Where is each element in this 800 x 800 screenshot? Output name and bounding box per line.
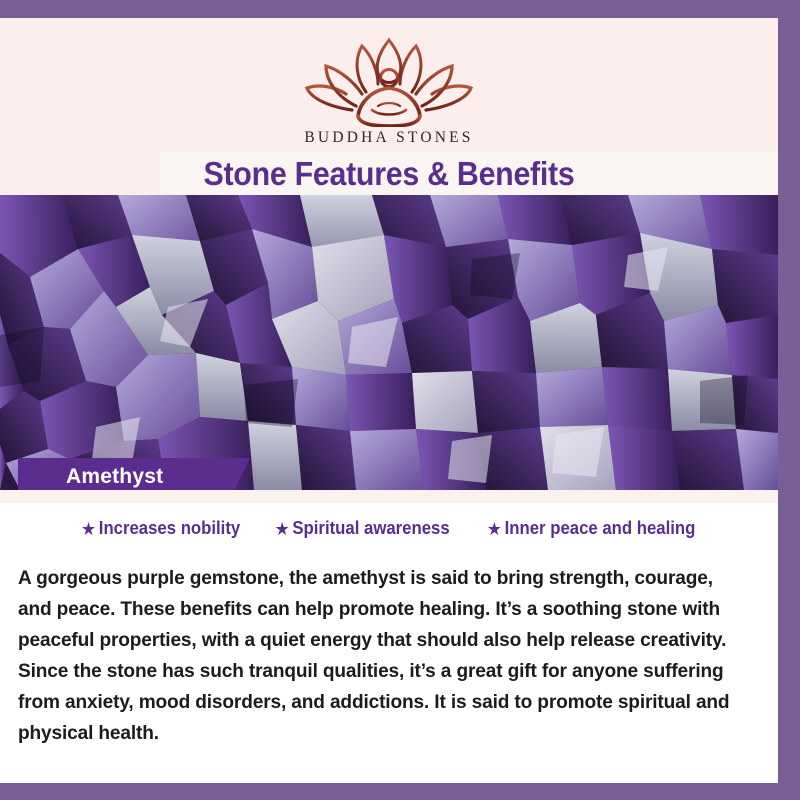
benefit-item-2: ★ Spiritual awareness xyxy=(275,518,450,539)
page-title: Stone Features & Benefits xyxy=(31,151,747,196)
benefit-label: Inner peace and healing xyxy=(504,518,695,539)
benefit-label: Spiritual awareness xyxy=(293,518,450,539)
content-card: BUDDHA STONES Stone Features & Benefits xyxy=(0,18,778,783)
star-icon: ★ xyxy=(275,520,290,538)
stone-description: A gorgeous purple gemstone, the amethyst… xyxy=(18,563,749,749)
frame-border-top xyxy=(0,0,800,18)
product-info-poster: BUDDHA STONES Stone Features & Benefits xyxy=(0,0,800,800)
lotus-meditation-icon xyxy=(294,32,484,127)
star-icon: ★ xyxy=(486,520,501,538)
benefit-item-1: ★ Increases nobility xyxy=(81,518,240,539)
frame-border-bottom xyxy=(0,783,800,800)
photo-bottom-sliver xyxy=(0,490,778,503)
benefit-label: Increases nobility xyxy=(99,518,240,539)
stone-name-label: Amethyst xyxy=(66,465,163,489)
benefits-row: ★ Increases nobility ★ Spiritual awarene… xyxy=(0,518,778,539)
frame-border-right xyxy=(778,0,800,800)
star-icon: ★ xyxy=(81,520,96,538)
brand-lockup: BUDDHA STONES xyxy=(0,32,778,147)
benefit-item-3: ★ Inner peace and healing xyxy=(486,518,695,539)
brand-name: BUDDHA STONES xyxy=(304,129,473,147)
amethyst-crystal-cluster-photo xyxy=(0,195,778,490)
poster-header: BUDDHA STONES Stone Features & Benefits xyxy=(0,18,778,195)
